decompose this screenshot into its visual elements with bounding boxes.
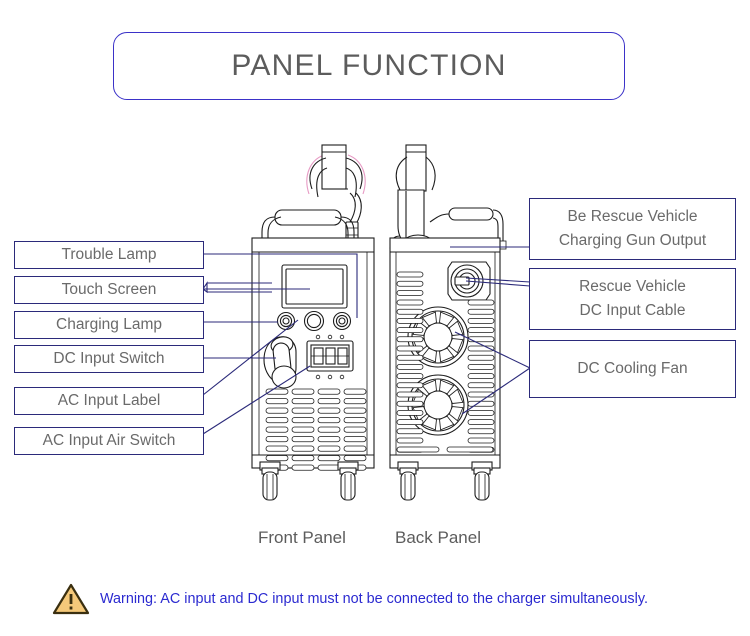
- warning-triangle-icon: [52, 582, 90, 616]
- callout-charging-lamp[interactable]: Charging Lamp: [14, 311, 204, 339]
- callout-label-line1: Rescue Vehicle: [579, 278, 686, 296]
- front-gun-mast: [307, 145, 365, 242]
- callout-label-text: Trouble Lamp: [61, 246, 156, 264]
- callout-touch-screen[interactable]: Touch Screen: [14, 276, 204, 304]
- callout-label-text: Touch Screen: [62, 281, 157, 299]
- back-panel-device: [390, 145, 506, 500]
- callout-label-line2: Charging Gun Output: [559, 232, 706, 250]
- callout-dc-input-cable[interactable]: Rescue Vehicle DC Input Cable: [529, 268, 736, 330]
- callout-label-line1: Be Rescue Vehicle: [567, 208, 697, 226]
- warning-bar: Warning: AC input and DC input must not …: [52, 576, 712, 622]
- callout-label-text: Charging Lamp: [56, 316, 162, 334]
- caption-front-panel: Front Panel: [258, 528, 346, 548]
- diagram-root: PANEL FUNCTION: [0, 0, 750, 636]
- callout-dc-cooling-fan[interactable]: DC Cooling Fan: [529, 340, 736, 398]
- warning-text: Warning: AC input and DC input must not …: [100, 591, 648, 607]
- caption-back-panel: Back Panel: [395, 528, 481, 548]
- callout-label-line2: DC Input Cable: [580, 302, 686, 320]
- callout-dc-input-switch[interactable]: DC Input Switch: [14, 345, 204, 373]
- callout-label-text: AC Input Air Switch: [43, 432, 176, 450]
- callout-trouble-lamp[interactable]: Trouble Lamp: [14, 241, 204, 269]
- callout-charging-gun-output[interactable]: Be Rescue Vehicle Charging Gun Output: [529, 198, 736, 260]
- callout-label-text: DC Input Switch: [53, 350, 164, 368]
- front-touch-screen: [282, 265, 347, 308]
- callout-label-text: AC Input Label: [58, 392, 161, 410]
- callout-label-line1: DC Cooling Fan: [577, 360, 687, 378]
- callout-ac-input-label[interactable]: AC Input Label: [14, 387, 204, 415]
- callout-ac-input-air-switch[interactable]: AC Input Air Switch: [14, 427, 204, 455]
